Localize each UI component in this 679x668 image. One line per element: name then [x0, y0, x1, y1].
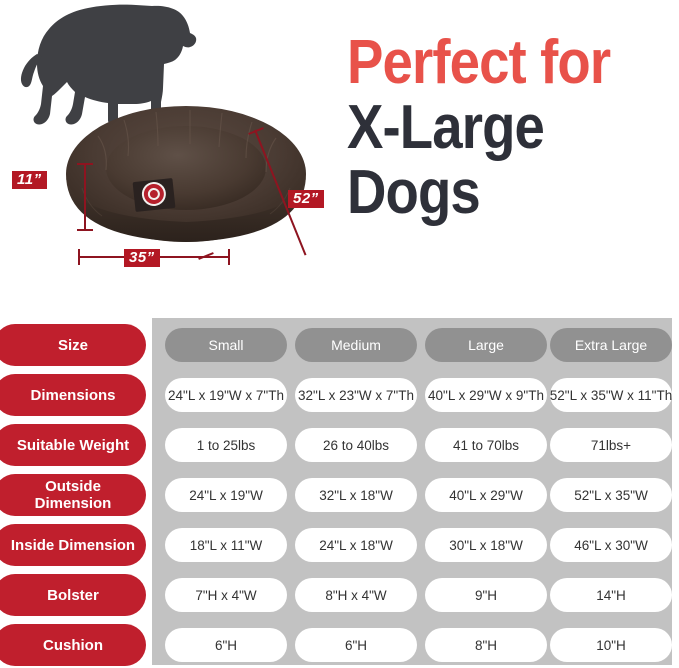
headline-line-1: Perfect for [347, 34, 639, 91]
table-cell: 7"H x 4"W [165, 578, 287, 612]
table-cell: 40"L x 29"W [425, 478, 547, 512]
table-cell: 52"L x 35"W x 11"Th [550, 378, 672, 412]
table-cell: 8"H [425, 628, 547, 662]
table-cell: 41 to 70lbs [425, 428, 547, 462]
page-title: Perfect for X-Large Dogs [347, 34, 679, 221]
row-label-size: Size [0, 324, 146, 366]
table-cell: 52"L x 35"W [550, 478, 672, 512]
dim-badge-height: 11” [12, 171, 47, 189]
row-label-dimensions: Dimensions [0, 374, 146, 416]
row-label-outside-dimension: Outside Dimension [0, 474, 146, 516]
table-cell: 1 to 25lbs [165, 428, 287, 462]
table-row: Dimensions24"L x 19"W x 7"Th32"L x 23"W … [0, 374, 679, 416]
row-label-inside-dimension: Inside Dimension [0, 524, 146, 566]
dim-badge-width: 35” [124, 249, 160, 267]
table-cell: 40"L x 29"W x 9"Th [425, 378, 547, 412]
table-row: Suitable Weight1 to 25lbs26 to 40lbs41 t… [0, 424, 679, 466]
table-row: Cushion6"H6"H8"H10"H [0, 624, 679, 666]
dim-cap-width-left [78, 249, 80, 265]
dim-badge-diagonal: 52” [288, 190, 324, 208]
dim-cap-height-top [77, 163, 93, 165]
headline-line-3: Dogs [347, 164, 639, 221]
table-cell: 32"L x 23"W x 7"Th [295, 378, 417, 412]
table-cell: 18"L x 11"W [165, 528, 287, 562]
table-cell: 6"H [295, 628, 417, 662]
row-label-cushion: Cushion [0, 624, 146, 666]
table-cell: 10"H [550, 628, 672, 662]
table-cell: 30"L x 18"W [425, 528, 547, 562]
table-cell: 24"L x 19"W x 7"Th [165, 378, 287, 412]
hero-section: 11” 52” 35” Perfect for X-Large Dogs [0, 0, 679, 310]
column-header-2: Large [425, 328, 547, 362]
table-cell: 26 to 40lbs [295, 428, 417, 462]
headline-line-2: X-Large [347, 99, 639, 156]
table-cell: 14"H [550, 578, 672, 612]
size-chart-table: SizeSmallMediumLargeExtra LargeDimension… [0, 318, 679, 668]
table-cell: 24"L x 18"W [295, 528, 417, 562]
table-cell: 9"H [425, 578, 547, 612]
column-header-0: Small [165, 328, 287, 362]
table-row: Bolster7"H x 4"W8"H x 4"W9"H14"H [0, 574, 679, 616]
table-cell: 71lbs+ [550, 428, 672, 462]
table-cell: 6"H [165, 628, 287, 662]
table-row: Outside Dimension24"L x 19"W32"L x 18"W4… [0, 474, 679, 516]
table-cell: 24"L x 19"W [165, 478, 287, 512]
row-label-bolster: Bolster [0, 574, 146, 616]
column-header-1: Medium [295, 328, 417, 362]
column-header-3: Extra Large [550, 328, 672, 362]
brand-logo-tag [133, 178, 176, 212]
table-row: SizeSmallMediumLargeExtra Large [0, 324, 679, 366]
dim-line-height [84, 163, 86, 231]
table-row: Inside Dimension18"L x 11"W24"L x 18"W30… [0, 524, 679, 566]
table-cell: 32"L x 18"W [295, 478, 417, 512]
table-cell: 8"H x 4"W [295, 578, 417, 612]
dim-cap-height-bottom [77, 229, 93, 231]
dim-cap-width-right [228, 249, 230, 265]
table-cell: 46"L x 30"W [550, 528, 672, 562]
row-label-suitable-weight: Suitable Weight [0, 424, 146, 466]
